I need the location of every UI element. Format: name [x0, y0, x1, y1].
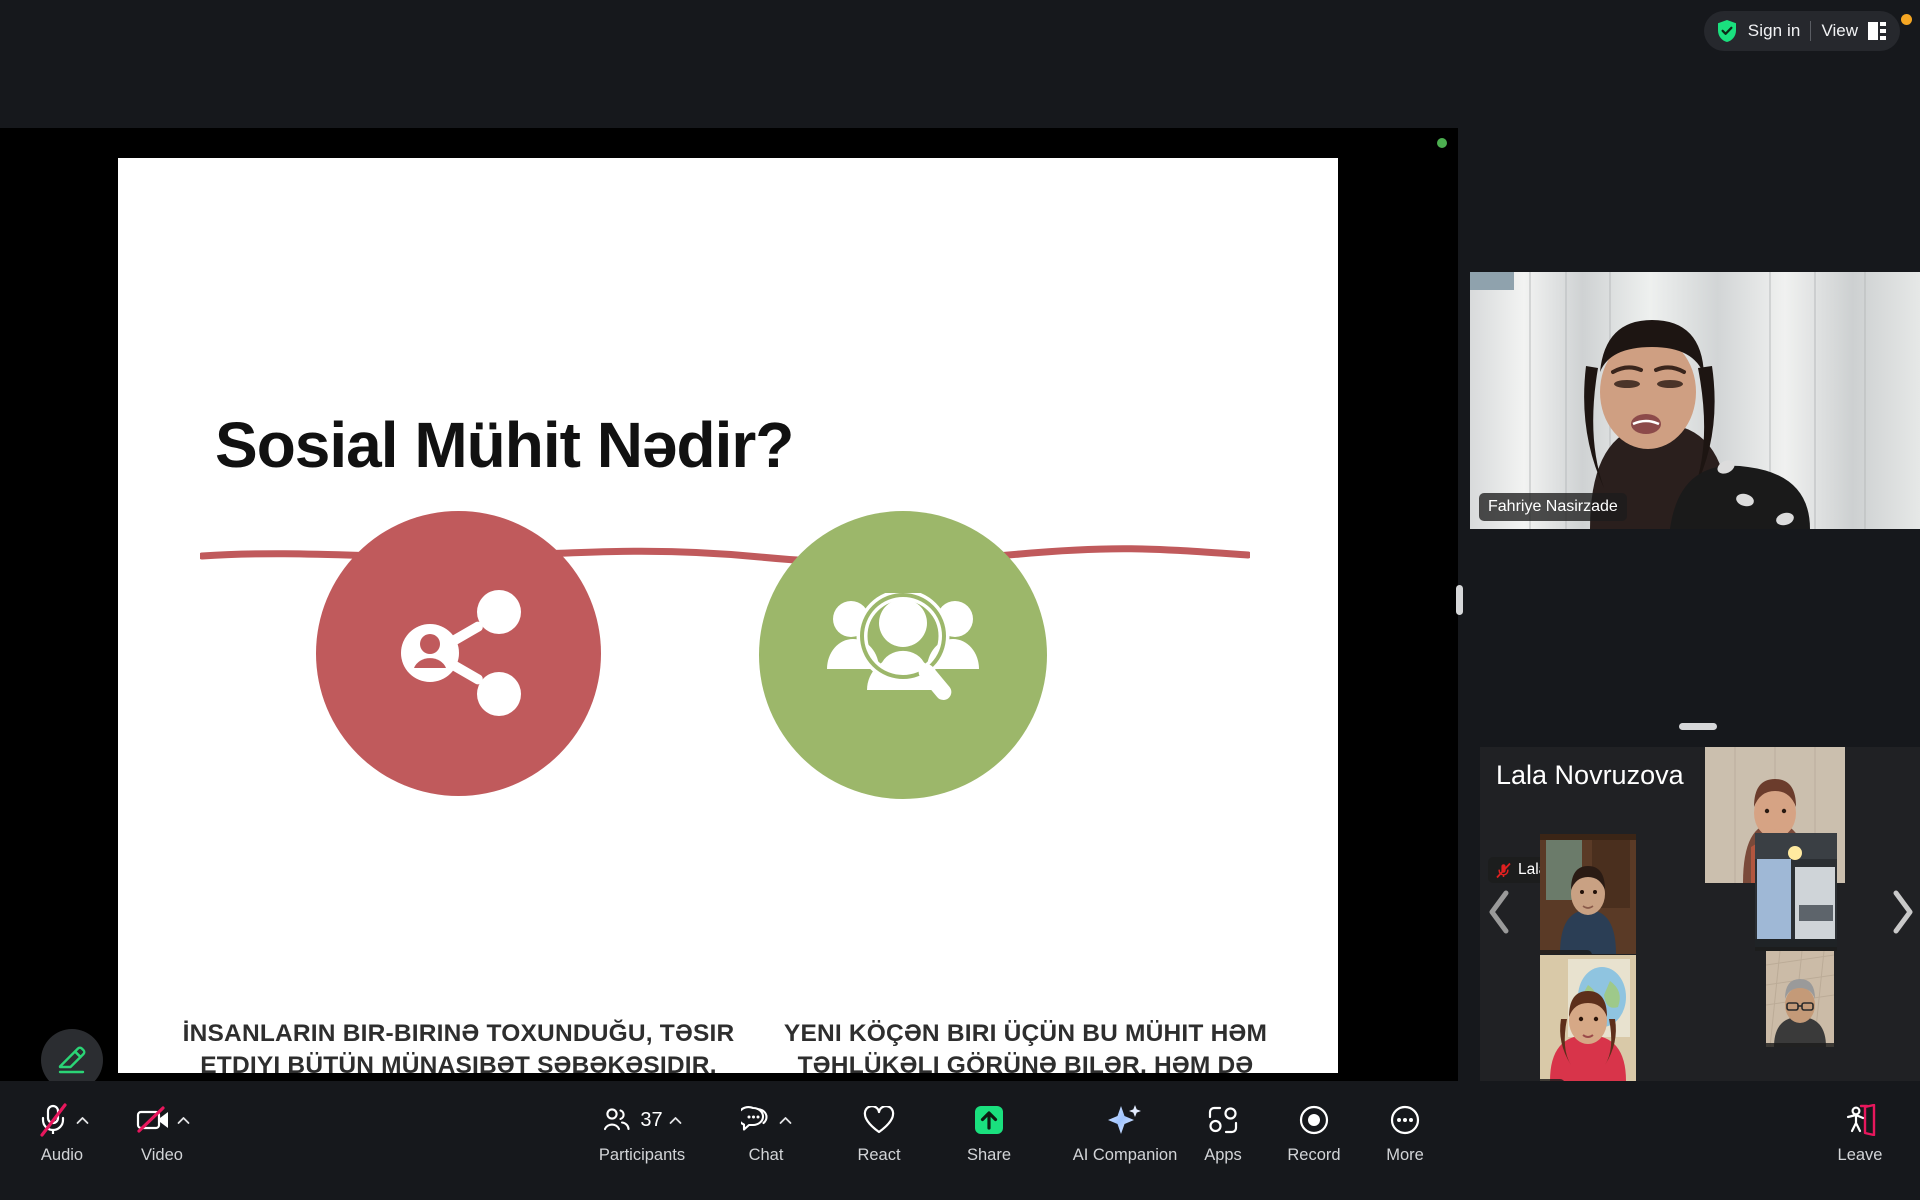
leave-label: Leave [1838, 1146, 1883, 1165]
chevron-up-icon[interactable] [779, 1116, 792, 1125]
share-screen-icon [972, 1103, 1006, 1137]
chevron-up-icon[interactable] [177, 1116, 190, 1125]
chat-label: Chat [749, 1146, 784, 1165]
record-label: Record [1287, 1146, 1340, 1165]
react-button[interactable]: React [833, 1097, 925, 1165]
participant-video-feed [1540, 834, 1636, 954]
right-caption: YENI KÖÇƏN BIRI ÜÇÜN BU MÜHIT HƏM TƏHLÜK… [733, 1018, 1318, 1073]
participant-video-feed [1766, 951, 1834, 1047]
participant-name-tag: mehbube [1540, 950, 1592, 954]
network-share-icon [384, 586, 534, 721]
top-bar: Sign in View [0, 0, 1920, 128]
chevron-up-icon[interactable] [76, 1116, 89, 1125]
more-button[interactable]: More [1359, 1097, 1451, 1165]
heart-icon [863, 1106, 895, 1135]
microphone-muted-icon [1495, 862, 1512, 879]
audio-button[interactable]: Audio [16, 1097, 108, 1165]
participant-tile[interactable]: mehbube [1540, 834, 1636, 954]
screen-share-active-dot [1437, 138, 1447, 148]
chat-bubble-icon [741, 1106, 773, 1134]
orange-status-dot [1901, 14, 1912, 25]
chat-button[interactable]: Chat [720, 1097, 812, 1165]
layout-view-icon[interactable] [1868, 21, 1886, 41]
participant-video-feed [1755, 833, 1837, 951]
chevron-right-icon[interactable] [1888, 889, 1916, 935]
apps-icon [1207, 1105, 1239, 1135]
record-circle-icon [1298, 1104, 1330, 1136]
speaker-video-feed [1470, 272, 1920, 529]
participant-gallery: Lala Novruzova Lala Novruzova [1480, 747, 1920, 1081]
participant-tile[interactable]: Əliyeva Gulnarə [1755, 833, 1837, 951]
pill-divider [1810, 21, 1811, 41]
participant-tile[interactable]: Bextiyar iPhone‘u [1766, 951, 1834, 1047]
react-label: React [857, 1146, 900, 1165]
ai-companion-label: AI Companion [1073, 1146, 1178, 1165]
participant-video-feed [1540, 955, 1636, 1081]
people-icon [602, 1107, 632, 1133]
apps-label: Apps [1204, 1146, 1242, 1165]
participants-count: 37 [640, 1109, 662, 1132]
audio-label: Audio [41, 1146, 83, 1165]
presentation-slide: Sosial Mühit Nədir? İNSAN [118, 158, 1338, 1073]
panel-resize-handle-horizontal[interactable] [1679, 723, 1717, 730]
slide-title: Sosial Mühit Nədir? [215, 408, 793, 482]
sparkle-icon [1106, 1103, 1144, 1137]
participants-label: Participants [599, 1146, 685, 1165]
share-label: Share [967, 1146, 1011, 1165]
active-speaker-tile[interactable]: Fahriye Nasirzade [1470, 272, 1920, 529]
apps-button[interactable]: Apps [1177, 1097, 1269, 1165]
sign-in-label: Sign in [1748, 21, 1801, 41]
leave-button[interactable]: Leave [1820, 1097, 1900, 1165]
group-search-circle [759, 511, 1047, 799]
panel-resize-handle-vertical[interactable] [1456, 585, 1463, 615]
share-button[interactable]: Share [943, 1097, 1035, 1165]
view-label: View [1821, 21, 1858, 41]
participants-button[interactable]: 37 Participants [582, 1097, 702, 1165]
network-share-circle [316, 511, 601, 796]
gallery-active-speaker-label: Lala Novruzova [1496, 760, 1684, 791]
leave-door-icon [1843, 1104, 1877, 1136]
video-button[interactable]: Video [116, 1097, 208, 1165]
meeting-toolbar: Audio Video 37 [0, 1081, 1920, 1200]
left-caption: İNSANLARIN BIR-BIRINƏ TOXUNDUĞU, TƏSIR E… [166, 1018, 751, 1073]
sign-in-pill[interactable]: Sign in View [1704, 11, 1900, 51]
chevron-up-icon[interactable] [669, 1116, 682, 1125]
microphone-muted-icon [36, 1102, 70, 1138]
speaker-name-label: Fahriye Nasirzade [1488, 498, 1618, 516]
video-label: Video [141, 1146, 183, 1165]
group-search-icon [823, 593, 983, 717]
speaker-name-tag: Fahriye Nasirzade [1479, 493, 1627, 521]
participant-tile[interactable]: Toma [1540, 955, 1636, 1081]
pencil-annotate-icon [55, 1043, 89, 1077]
participant-name-tag: Bextiyar iPhone‘u [1766, 1043, 1834, 1047]
shield-check-icon [1716, 19, 1738, 43]
ai-companion-button[interactable]: AI Companion [1060, 1097, 1190, 1165]
more-label: More [1386, 1146, 1424, 1165]
record-button[interactable]: Record [1268, 1097, 1360, 1165]
ellipsis-icon [1389, 1104, 1421, 1136]
chevron-left-icon[interactable] [1486, 889, 1514, 935]
camera-muted-icon [135, 1105, 171, 1135]
